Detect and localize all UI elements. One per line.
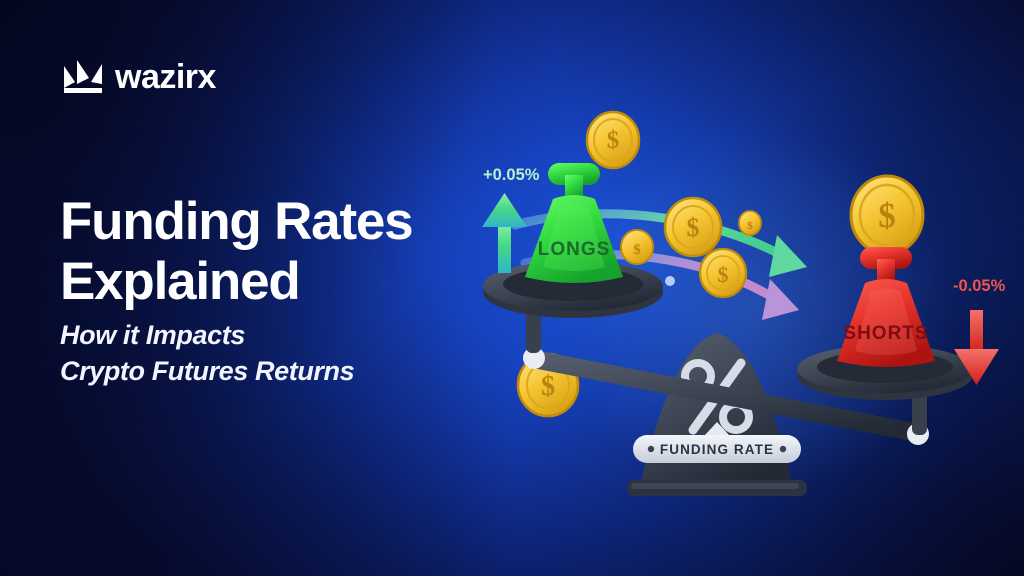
page-title: Funding Rates Explained <box>60 192 490 312</box>
brand-logo[interactable]: wazirx <box>62 58 216 96</box>
coin-top-center: $ <box>587 112 639 168</box>
svg-text:$: $ <box>607 127 620 154</box>
coin-cluster-large: $ <box>665 198 721 256</box>
svg-text:$: $ <box>541 371 555 402</box>
svg-text:$: $ <box>633 242 641 258</box>
longs-weight-label: LONGS <box>538 239 611 260</box>
coin-cluster-tiny-right: $ <box>739 211 761 235</box>
coin-cluster-lower: $ <box>700 249 746 297</box>
negative-rate-label: -0.05% <box>953 277 1006 295</box>
wazirx-crown-mark-icon <box>62 58 104 96</box>
plaque-dot-left <box>648 446 654 452</box>
plaque-label: FUNDING RATE <box>660 442 774 457</box>
brand-wordmark: wazirx <box>115 60 216 94</box>
plaque-dot-right <box>780 446 786 452</box>
svg-text:$: $ <box>687 213 700 242</box>
shorts-weight-label: SHORTS <box>843 323 928 344</box>
hero-illustration: $ $ $ $ $ $ <box>455 95 1024 525</box>
page-subtitle: How it ImpactsCrypto Futures Returns <box>60 318 490 389</box>
coin-top-right: $ <box>851 176 923 254</box>
positive-rate-label: +0.05% <box>483 166 540 184</box>
coin-cluster-small-left: $ <box>621 230 653 264</box>
arrow-up-green-icon <box>482 193 527 273</box>
balance-scale-graphic: $ $ $ $ $ $ <box>455 95 1024 525</box>
svg-text:$: $ <box>878 196 896 235</box>
sparkle-dot <box>665 276 675 286</box>
banner-root: wazirx Funding Rates Explained How it Im… <box>0 0 1024 576</box>
svg-text:$: $ <box>718 262 729 287</box>
svg-text:$: $ <box>747 220 753 232</box>
